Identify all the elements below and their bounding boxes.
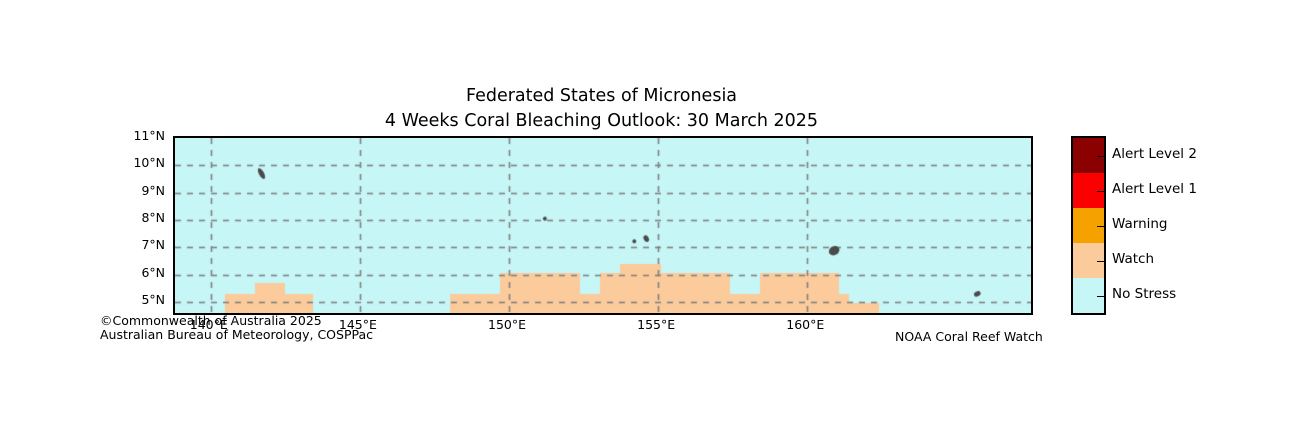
y-tick-label-5N: 5°N	[105, 294, 165, 306]
map-plot-area[interactable]	[173, 136, 1033, 315]
page-title: Federated States of Micronesia 4 Weeks C…	[173, 84, 1030, 134]
legend-tick-0	[1097, 156, 1106, 157]
legend-label-warning: Warning	[1112, 217, 1168, 231]
title-line-2: 4 Weeks Coral Bleaching Outlook: 30 Marc…	[173, 109, 1030, 134]
y-tick-label-10N: 10°N	[105, 157, 165, 169]
legend-tick-4	[1097, 296, 1106, 297]
x-tick-label-160E: 160°E	[765, 318, 845, 332]
y-tick-label-11N: 11°N	[105, 130, 165, 142]
title-line-1: Federated States of Micronesia	[173, 84, 1030, 109]
y-tick-label-6N: 6°N	[105, 267, 165, 279]
legend-label-alert-level-1: Alert Level 1	[1112, 182, 1197, 196]
legend-tick-2	[1097, 226, 1106, 227]
coral-bleaching-heatmap	[175, 138, 1031, 313]
legend-label-watch: Watch	[1112, 252, 1154, 266]
x-tick-label-155E: 155°E	[616, 318, 696, 332]
legend-colorbar[interactable]	[1071, 136, 1106, 315]
copyright-credit: ©Commonwealth of Australia 2025 Australi…	[100, 314, 373, 341]
y-tick-label-8N: 8°N	[105, 212, 165, 224]
copyright-line-2: Australian Bureau of Meteorology, COSPPa…	[100, 328, 373, 342]
legend-tick-3	[1097, 261, 1106, 262]
copyright-line-1: ©Commonwealth of Australia 2025	[100, 314, 373, 328]
legend-label-no-stress: No Stress	[1112, 287, 1176, 301]
y-tick-label-7N: 7°N	[105, 239, 165, 251]
legend-tick-1	[1097, 191, 1106, 192]
data-source-credit: NOAA Coral Reef Watch	[895, 330, 1043, 344]
legend-label-alert-level-2: Alert Level 2	[1112, 147, 1197, 161]
coral-bleaching-outlook-figure: Federated States of Micronesia 4 Weeks C…	[0, 0, 1293, 447]
y-tick-label-9N: 9°N	[105, 185, 165, 197]
x-tick-label-150E: 150°E	[467, 318, 547, 332]
